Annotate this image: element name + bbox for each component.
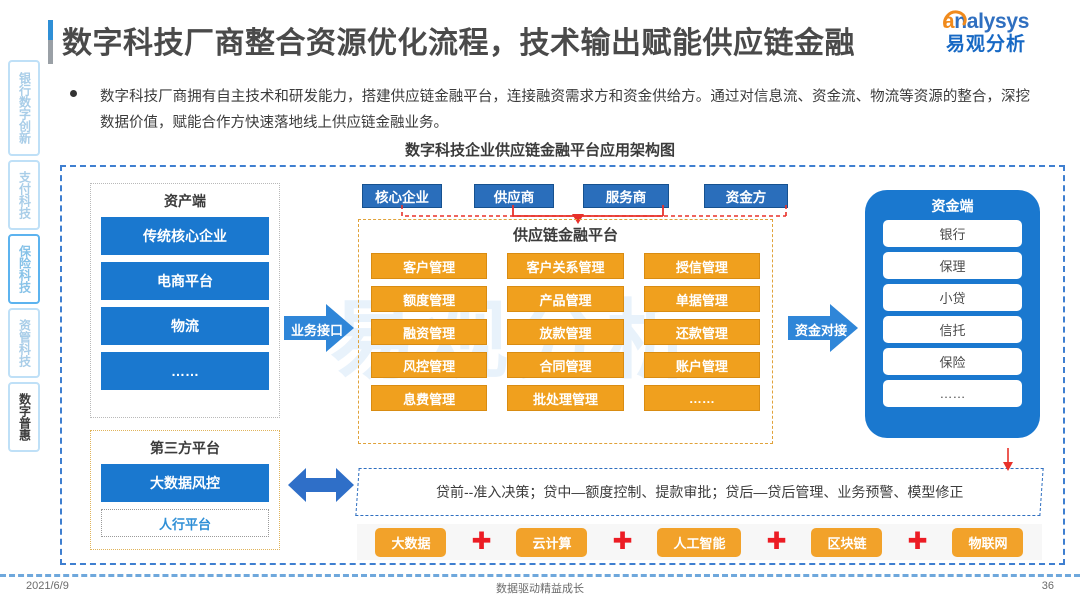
role-chip-label: 服务商: [606, 186, 647, 206]
footer-page-number: 36: [1042, 580, 1054, 592]
third-party-item-label: 大数据风控: [150, 473, 220, 493]
plus-icon: ✚: [471, 534, 491, 550]
platform-module[interactable]: 放款管理: [507, 319, 623, 345]
sidebar-item-label: 银行数字创新: [17, 72, 32, 144]
business-interface-label: 业务接口: [291, 320, 343, 339]
title-accent-bar: [48, 20, 53, 64]
fund-item-bank[interactable]: 银行: [883, 220, 1022, 247]
platform-module[interactable]: 客户管理: [371, 253, 487, 279]
fund-item-more[interactable]: ……: [883, 380, 1022, 407]
fund-side-title: 资金端: [865, 190, 1040, 220]
bullet-text: 数字科技厂商拥有自主技术和研发能力，搭建供应链金融平台，连接融资需求方和资金供给…: [100, 84, 1030, 136]
bidirectional-arrow-icon: [288, 462, 354, 508]
third-party-title: 第三方平台: [91, 431, 279, 464]
platform-module[interactable]: 授信管理: [644, 253, 760, 279]
platform-module[interactable]: 融资管理: [371, 319, 487, 345]
asset-item-label: ……: [171, 363, 199, 379]
plus-icon: ✚: [766, 534, 786, 550]
platform-module-label: 还款管理: [676, 323, 728, 342]
platform-title: 供应链金融平台: [359, 220, 772, 245]
platform-module[interactable]: 产品管理: [507, 286, 623, 312]
fund-item-trust[interactable]: 信托: [883, 316, 1022, 343]
platform-module[interactable]: 合同管理: [507, 352, 623, 378]
platform-module-label: 客户管理: [403, 257, 455, 276]
platform-module-label: 合同管理: [539, 356, 591, 375]
diagram-caption: 数字科技企业供应链金融平台应用架构图: [0, 139, 1080, 160]
platform-module[interactable]: 额度管理: [371, 286, 487, 312]
platform-module-label: ……: [689, 391, 715, 406]
logo-wordmark: analysys: [920, 10, 1052, 34]
sidebar-item-label: 资管科技: [17, 319, 32, 367]
tech-tag-ai[interactable]: 人工智能: [657, 528, 741, 557]
role-chip-label: 供应商: [494, 186, 535, 206]
logo-swoosh-icon: [942, 10, 972, 28]
sidebar-item-asset-mgmt[interactable]: 资管科技: [8, 308, 40, 378]
loan-stage-note: 贷前--准入决策；贷中—额度控制、提款审批；贷后—贷后管理、业务预警、模型修正: [355, 468, 1043, 516]
sidebar-item-inclusive-finance[interactable]: 数字普惠: [8, 382, 40, 452]
fund-item-label: 信托: [939, 320, 965, 339]
fund-side-box: 资金端 银行 保理 小贷 信托 保险 ……: [865, 190, 1040, 438]
tech-tag-cloud[interactable]: 云计算: [516, 528, 587, 557]
platform-module[interactable]: 账户管理: [644, 352, 760, 378]
sidebar-item-insurance[interactable]: 保险科技: [8, 234, 40, 304]
asset-item-label: 电商平台: [157, 271, 213, 291]
asset-item-ecommerce[interactable]: 电商平台: [101, 262, 269, 300]
third-party-bigdata-risk[interactable]: 大数据风控: [101, 464, 269, 502]
loan-stage-note-text: 贷前--准入决策；贷中—额度控制、提款审批；贷后—贷后管理、业务预警、模型修正: [436, 481, 963, 503]
fund-item-label: 银行: [939, 224, 965, 243]
platform-module-label: 放款管理: [539, 323, 591, 342]
platform-module-label: 账户管理: [676, 356, 728, 375]
tech-tag-label: 大数据: [391, 536, 430, 551]
platform-module[interactable]: 批处理管理: [507, 385, 623, 411]
platform-module[interactable]: 单据管理: [644, 286, 760, 312]
sidebar-item-label: 保险科技: [17, 245, 32, 293]
tech-tag-label: 人工智能: [673, 536, 725, 551]
analysys-logo: analysys 易观分析: [920, 10, 1052, 64]
sidebar-item-label: 支付科技: [17, 171, 32, 219]
asset-side-title: 资产端: [91, 184, 279, 217]
platform-module-label: 客户关系管理: [526, 257, 604, 276]
platform-module[interactable]: ……: [644, 385, 760, 411]
platform-module[interactable]: 还款管理: [644, 319, 760, 345]
technology-stack-row: 大数据 ✚ 云计算 ✚ 人工智能 ✚ 区块链 ✚ 物联网: [357, 524, 1042, 560]
platform-module-label: 融资管理: [403, 323, 455, 342]
platform-module-label: 单据管理: [676, 290, 728, 309]
asset-item-traditional-core[interactable]: 传统核心企业: [101, 217, 269, 255]
fund-item-factoring[interactable]: 保理: [883, 252, 1022, 279]
tech-tag-iot[interactable]: 物联网: [952, 528, 1023, 557]
asset-side-box: 资产端 传统核心企业 电商平台 物流 ……: [90, 183, 280, 418]
platform-module[interactable]: 息费管理: [371, 385, 487, 411]
bullet-paragraph: 数字科技厂商拥有自主技术和研发能力，搭建供应链金融平台，连接融资需求方和资金供给…: [70, 84, 1030, 136]
page-footer: 2021/6/9 数据驱动精益成长 36: [0, 580, 1080, 604]
platform-module-label: 批处理管理: [533, 389, 598, 408]
page-title: 数字科技厂商整合资源优化流程，技术输出赋能供应链金融: [62, 18, 855, 62]
bullet-dot-icon: [70, 90, 77, 97]
third-party-pboc-platform[interactable]: 人行平台: [101, 509, 269, 537]
page-header: 数字科技厂商整合资源优化流程，技术输出赋能供应链金融 analysys 易观分析: [0, 0, 1080, 70]
supply-chain-platform: 供应链金融平台 客户管理 客户关系管理 授信管理 额度管理 产品管理 单据管理 …: [358, 219, 773, 444]
asset-item-more[interactable]: ……: [101, 352, 269, 390]
fund-item-microloan[interactable]: 小贷: [883, 284, 1022, 311]
third-party-item-label: 人行平台: [159, 514, 211, 533]
fund-docking-label: 资金对接: [795, 320, 847, 339]
platform-module-label: 风控管理: [403, 356, 455, 375]
fund-item-label: 小贷: [939, 288, 965, 307]
platform-module[interactable]: 客户关系管理: [507, 253, 623, 279]
footer-divider: [0, 574, 1080, 577]
stage-note-arrow-icon: [1000, 448, 1016, 472]
sidebar-tabs: 银行数字创新 支付科技 保险科技 资管科技 数字普惠: [8, 60, 44, 456]
asset-item-label: 传统核心企业: [143, 226, 227, 246]
footer-slogan: 数据驱动精益成长: [0, 580, 1080, 596]
tech-tag-label: 云计算: [532, 536, 571, 551]
fund-item-label: 保理: [939, 256, 965, 275]
platform-module[interactable]: 风控管理: [371, 352, 487, 378]
plus-icon: ✚: [907, 534, 927, 550]
fund-item-insurance[interactable]: 保险: [883, 348, 1022, 375]
sidebar-item-payment[interactable]: 支付科技: [8, 160, 40, 230]
role-chip-label: 资金方: [726, 186, 767, 206]
tech-tag-label: 物联网: [968, 536, 1007, 551]
platform-module-label: 授信管理: [676, 257, 728, 276]
platform-module-label: 额度管理: [403, 290, 455, 309]
role-chip-label: 核心企业: [375, 186, 429, 206]
fund-item-label: 保险: [939, 352, 965, 371]
platform-module-label: 产品管理: [539, 290, 591, 309]
asset-item-logistics[interactable]: 物流: [101, 307, 269, 345]
third-party-box: 第三方平台 大数据风控 人行平台: [90, 430, 280, 550]
logo-chinese: 易观分析: [920, 34, 1052, 56]
tech-tag-label: 区块链: [827, 536, 866, 551]
asset-item-label: 物流: [171, 316, 199, 336]
platform-module-label: 息费管理: [403, 389, 455, 408]
tech-tag-bigdata[interactable]: 大数据: [375, 528, 446, 557]
tech-tag-blockchain[interactable]: 区块链: [811, 528, 882, 557]
platform-module-grid: 客户管理 客户关系管理 授信管理 额度管理 产品管理 单据管理 融资管理 放款管…: [359, 245, 772, 411]
plus-icon: ✚: [612, 534, 632, 550]
fund-item-label: ……: [940, 386, 966, 401]
sidebar-item-label: 数字普惠: [17, 393, 32, 441]
